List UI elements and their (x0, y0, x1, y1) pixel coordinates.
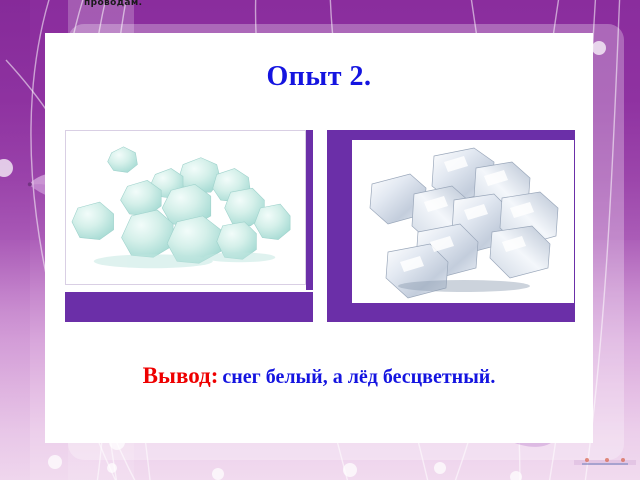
slide-canvas: проводам. Опыт 2. (0, 0, 640, 480)
ice-photo (352, 140, 574, 303)
snow-frame-right-accent (306, 130, 313, 290)
watermark-logo (574, 456, 636, 468)
snow-illustration (66, 131, 305, 284)
snow-image-frame (65, 130, 313, 322)
conclusion-line: Вывод: снег белый, а лёд бесцветный. (45, 363, 593, 389)
slide-white-card: Опыт 2. (45, 33, 593, 443)
snow-frame-bottom-accent (65, 292, 313, 322)
page-title: Опыт 2. (45, 61, 593, 93)
top-text-fragment: проводам. (84, 0, 142, 8)
background-left-strip (0, 0, 30, 480)
snow-photo (65, 130, 306, 285)
conclusion-text: снег белый, а лёд бесцветный. (222, 366, 495, 388)
ice-illustration (352, 140, 574, 303)
conclusion-lead-label: Вывод: (143, 363, 219, 388)
ice-image-frame (327, 130, 575, 322)
